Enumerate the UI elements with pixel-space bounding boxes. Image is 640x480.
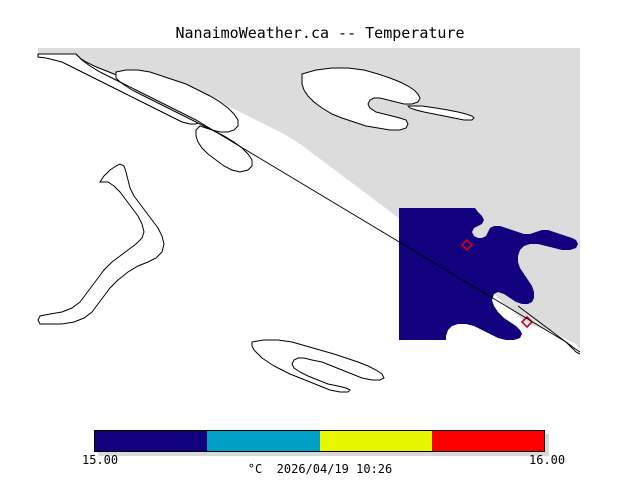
colorbar-band-yellow xyxy=(320,431,432,451)
lake-layer xyxy=(38,164,384,392)
colorbar-band-red xyxy=(432,431,544,451)
map-graphic xyxy=(20,44,620,404)
units-and-timestamp: °C 2026/04/19 10:26 xyxy=(0,462,640,476)
page-title: NanaimoWeather.ca -- Temperature xyxy=(0,24,640,42)
map-canvas[interactable] xyxy=(20,44,620,404)
colorbar-band-cyan xyxy=(207,431,319,451)
lake-elongated-south xyxy=(252,340,384,392)
colorbar-band-navy xyxy=(95,431,207,451)
weather-map-page: NanaimoWeather.ca -- Temperature xyxy=(0,0,640,480)
colorbar[interactable] xyxy=(94,430,545,452)
colorbar-bands[interactable] xyxy=(94,430,545,452)
lake-elongated-west xyxy=(38,164,164,324)
